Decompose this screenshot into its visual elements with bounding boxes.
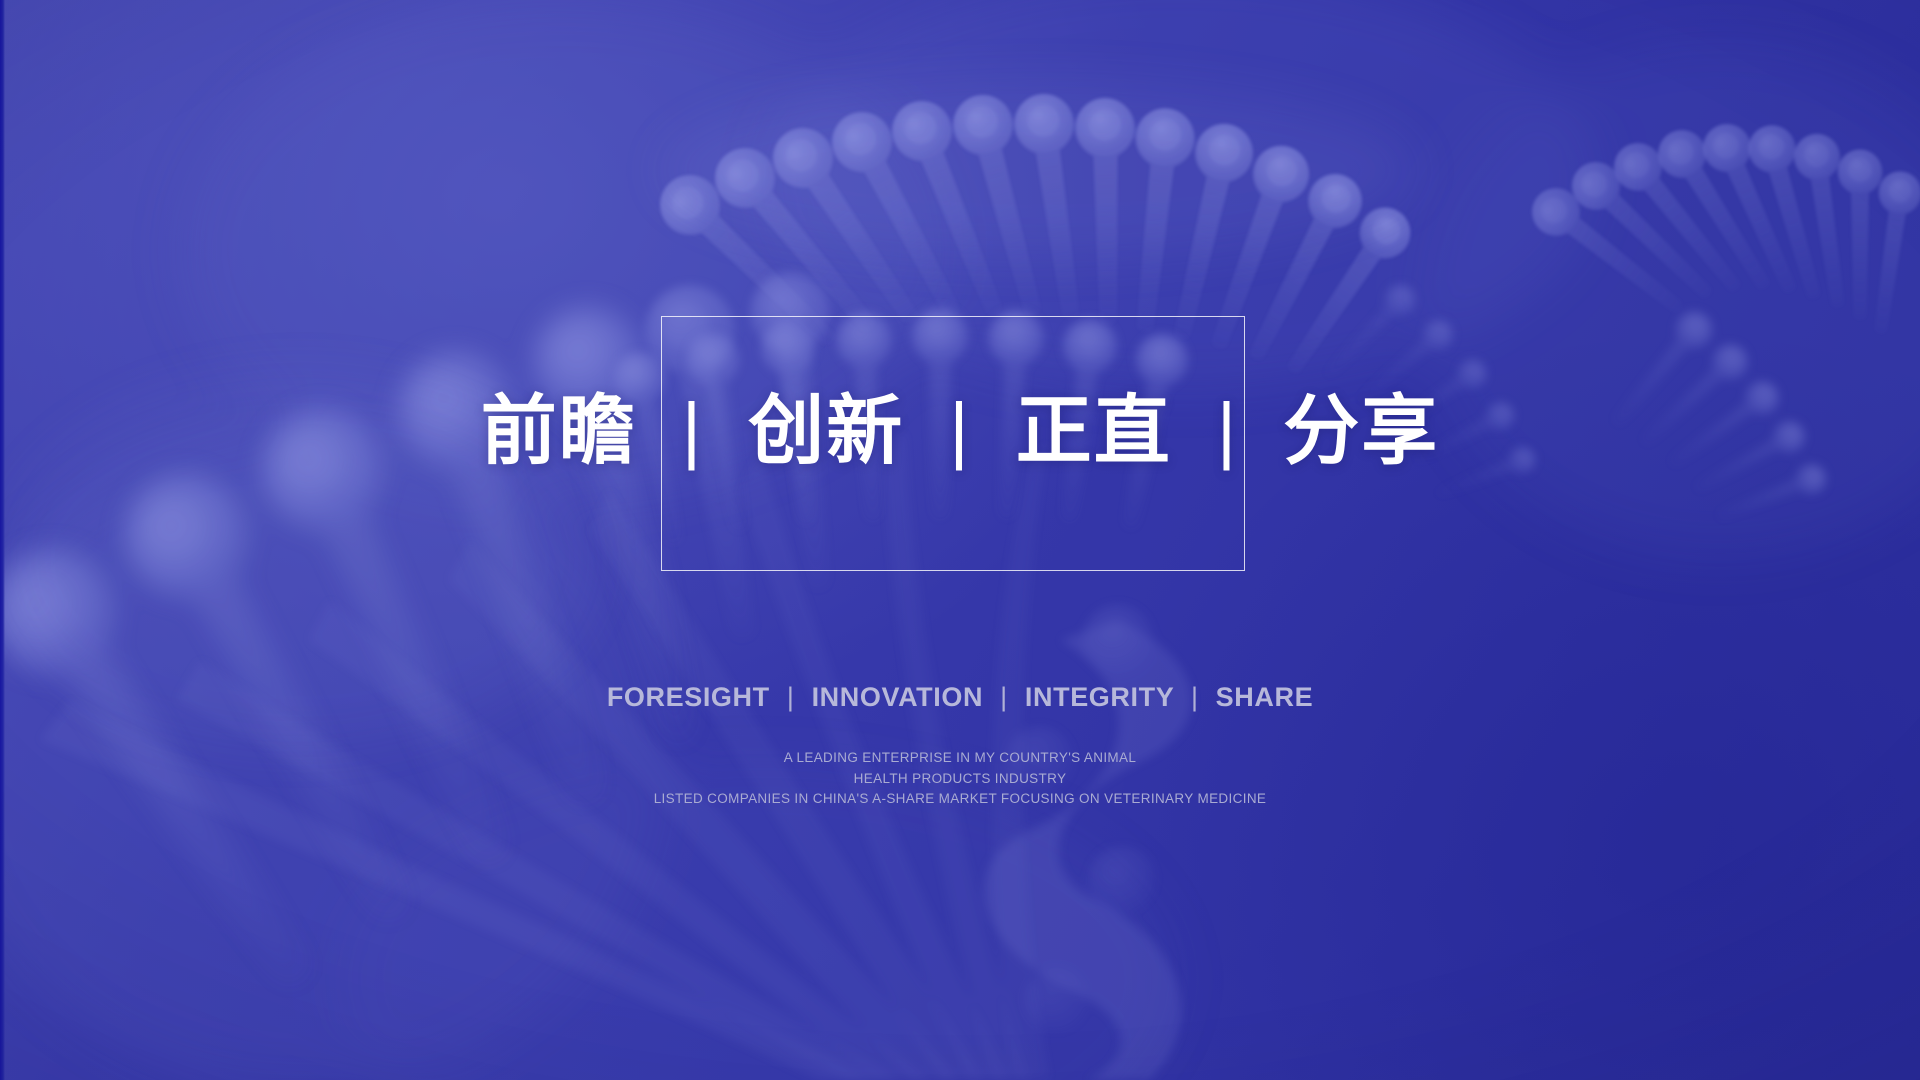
value-label-share-en: SHARE bbox=[1216, 682, 1314, 712]
value-label-innovation-cn: 创新 bbox=[748, 386, 904, 475]
value-label-innovation-en: INNOVATION bbox=[812, 682, 984, 712]
banner-slide: 前瞻 | 创新 | 正直 | 分享 FORESIGHT | INNOVATION… bbox=[0, 0, 1920, 1080]
company-tagline: A LEADING ENTERPRISE IN MY COUNTRY'S ANI… bbox=[0, 748, 1920, 810]
tagline-line-1: A LEADING ENTERPRISE IN MY COUNTRY'S ANI… bbox=[0, 748, 1920, 769]
headline-separator-1: | bbox=[682, 393, 703, 467]
value-label-foresight-cn: 前瞻 bbox=[481, 386, 637, 475]
values-subtitle-en: FORESIGHT | INNOVATION | INTEGRITY | SHA… bbox=[0, 682, 1920, 713]
value-label-integrity-en: INTEGRITY bbox=[1025, 682, 1174, 712]
banner-content: 前瞻 | 创新 | 正直 | 分享 FORESIGHT | INNOVATION… bbox=[0, 0, 1920, 1080]
subtitle-separator-1: | bbox=[787, 682, 795, 713]
headline-separator-2: | bbox=[949, 393, 970, 467]
value-label-integrity-cn: 正直 bbox=[1016, 386, 1172, 475]
values-headline-cn: 前瞻 | 创新 | 正直 | 分享 bbox=[0, 393, 1920, 470]
value-label-share-cn: 分享 bbox=[1283, 386, 1439, 475]
tagline-line-3: LISTED COMPANIES IN CHINA'S A-SHARE MARK… bbox=[0, 789, 1920, 810]
tagline-line-2: HEALTH PRODUCTS INDUSTRY bbox=[0, 769, 1920, 790]
value-label-foresight-en: FORESIGHT bbox=[607, 682, 770, 712]
subtitle-separator-2: | bbox=[1000, 682, 1008, 713]
headline-separator-3: | bbox=[1217, 393, 1238, 467]
subtitle-separator-3: | bbox=[1191, 682, 1199, 713]
